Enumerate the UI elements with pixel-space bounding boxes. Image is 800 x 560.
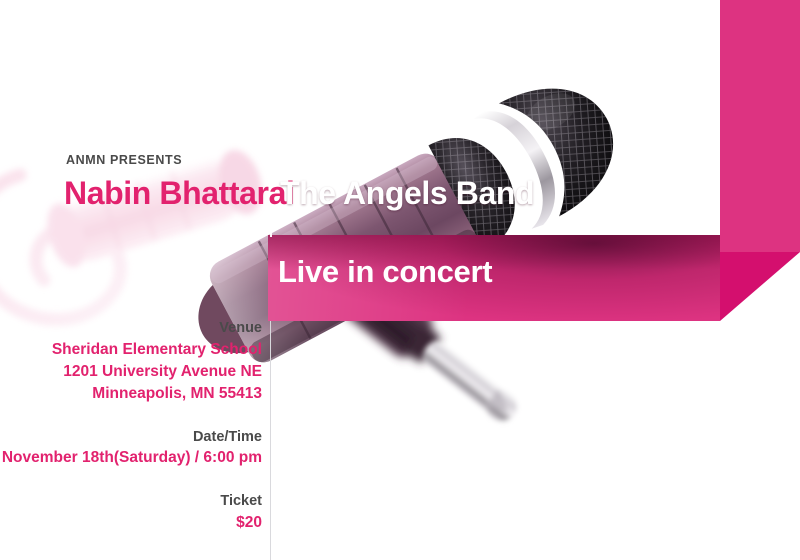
event-details: Venue Sheridan Elementary School 1201 Un… (0, 318, 262, 534)
venue-group: Venue Sheridan Elementary School 1201 Un… (0, 318, 262, 405)
ticket-group: Ticket $20 (0, 491, 262, 534)
tagline: Live in concert (278, 254, 492, 290)
ticket-label: Ticket (0, 491, 262, 512)
venue-city: Minneapolis, MN 55413 (0, 383, 262, 405)
details-divider (270, 321, 271, 560)
datetime-label: Date/Time (0, 427, 262, 448)
venue-street: 1201 University Avenue NE (0, 361, 262, 383)
venue-label: Venue (0, 318, 262, 339)
datetime-value: November 18th(Saturday) / 6:00 pm (0, 447, 262, 469)
presenter-label: ANMN PRESENTS (66, 153, 182, 167)
ticket-price: $20 (0, 512, 262, 534)
concert-poster: ANMN PRESENTS Nabin Bhattarai The Angels… (0, 0, 800, 560)
band-name: The Angels Band (280, 175, 534, 212)
datetime-group: Date/Time November 18th(Saturday) / 6:00… (0, 427, 262, 470)
venue-name: Sheridan Elementary School (0, 339, 262, 361)
pink-accent-column (720, 0, 800, 252)
pink-accent-triangle (720, 252, 800, 321)
artist-name: Nabin Bhattarai (64, 175, 295, 212)
